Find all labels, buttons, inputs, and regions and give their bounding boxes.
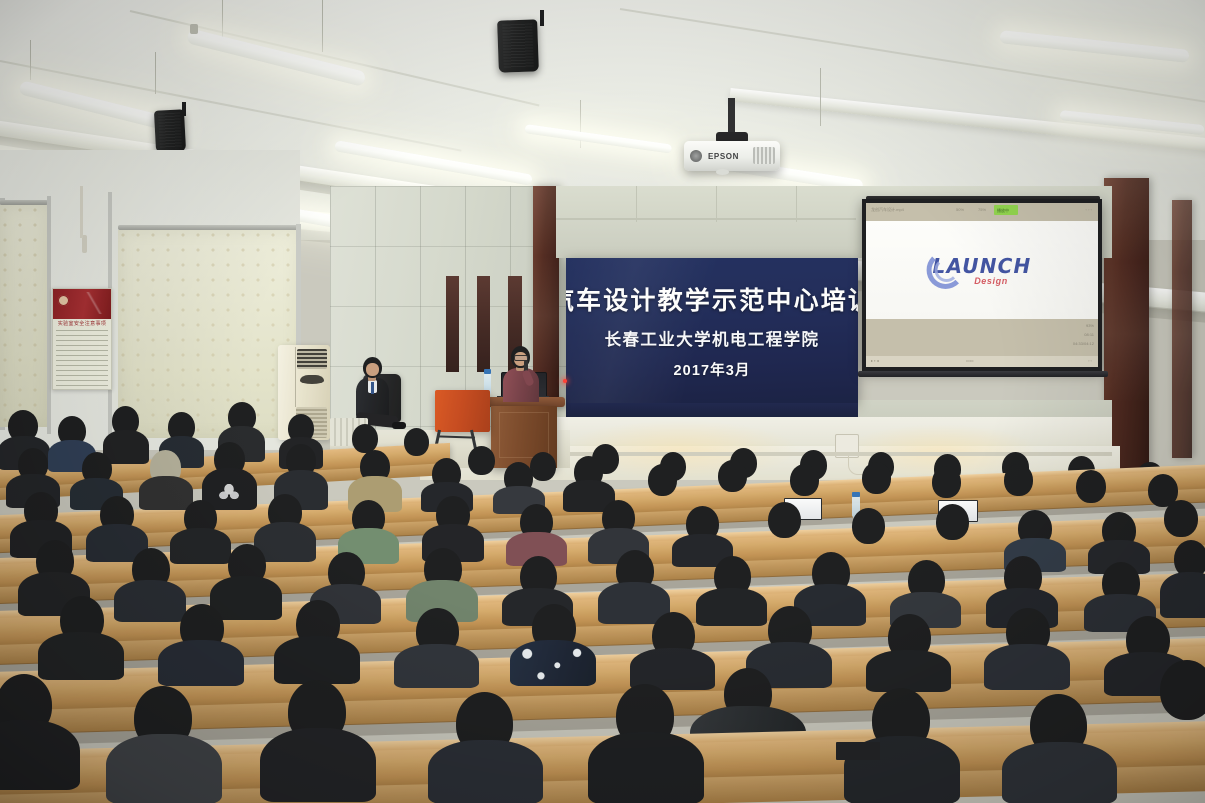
projector-vent xyxy=(753,147,775,164)
audience-body xyxy=(0,720,80,790)
audience-body xyxy=(984,644,1070,690)
player-stat-elapsed: 04:33/04:12 xyxy=(1073,341,1094,346)
audience-head xyxy=(1004,464,1033,496)
bottle-cap xyxy=(484,369,491,374)
audience-body xyxy=(158,640,244,686)
audience-head xyxy=(648,464,677,496)
audience-head xyxy=(1076,470,1106,503)
ceiling-speaker xyxy=(497,19,539,72)
player-toolbar: ▸ ▪ ◂ ▭▭ ▫ ▫ xyxy=(866,356,1098,367)
player-right-controls: ◦ ◦ ◦ xyxy=(1086,207,1092,212)
university-seal-icon xyxy=(58,295,69,306)
audience-body xyxy=(1160,572,1205,618)
ceiling-speaker xyxy=(154,109,186,153)
projector-lens xyxy=(690,150,702,162)
speaker-bracket xyxy=(540,10,544,26)
player-top-bar: 龙创汽车设计.mp4 50% 75% 播放中 ◦ ◦ ◦ xyxy=(866,203,1098,221)
audience-body xyxy=(696,588,767,626)
ac-intake-grille xyxy=(297,349,327,369)
player-toolbar-center: ▭▭ xyxy=(966,358,974,363)
projector: EPSON xyxy=(684,141,780,171)
window-blind xyxy=(118,230,298,438)
banner-title-line: 龙创汽车设计教学示范中心培训首课 xyxy=(566,281,858,317)
light-wire xyxy=(820,68,821,126)
audience-body xyxy=(210,576,282,620)
banner-subtitle-line: 长春工业大学机电工程学院 xyxy=(605,326,820,350)
ac-panel-seam xyxy=(295,347,296,407)
audience-body xyxy=(103,430,149,464)
player-toolbar-right-icons: ▫ ▫ xyxy=(1088,358,1092,363)
screen-surface: 龙创汽车设计.mp4 50% 75% 播放中 ◦ ◦ ◦ LAUNCH Desi… xyxy=(866,203,1098,367)
wall-seam xyxy=(716,186,717,222)
audience-head xyxy=(352,424,378,453)
audience-body xyxy=(170,528,231,564)
light-wire xyxy=(222,0,223,40)
light-end-cap xyxy=(190,24,198,34)
audience-body xyxy=(394,644,479,688)
window-blind xyxy=(0,205,48,427)
light-wire xyxy=(30,40,31,80)
launch-design-logo: LAUNCH Design xyxy=(933,254,1032,286)
notice-board: 实验室安全注意事项 xyxy=(52,288,112,390)
audience-body xyxy=(38,632,124,680)
screen-bottom-bar xyxy=(858,371,1108,377)
audience-body xyxy=(114,580,186,622)
audience-body xyxy=(139,476,193,510)
projector-lens-front xyxy=(716,169,729,175)
projector-pole xyxy=(728,98,735,134)
audience-head xyxy=(1164,500,1198,537)
laser-pointer-dot xyxy=(563,379,567,383)
wall-seam xyxy=(636,186,637,222)
audience-body xyxy=(274,636,360,684)
audience-head xyxy=(718,460,747,492)
notice-title: 实验室安全注意事项 xyxy=(53,320,111,327)
event-banner: 龙创汽车设计教学示范中心培训首课 长春工业大学机电工程学院 2017年3月 xyxy=(566,258,858,403)
projection-screen: 龙创汽车设计.mp4 50% 75% 播放中 ◦ ◦ ◦ LAUNCH Desi… xyxy=(862,199,1102,371)
player-toolbar-left-icons: ▸ ▪ ◂ xyxy=(871,358,879,363)
player-progress-2: 75% xyxy=(978,207,986,212)
audience-body xyxy=(428,740,543,803)
light-wire xyxy=(155,52,156,94)
banner-skirt xyxy=(566,403,858,417)
folded-table xyxy=(435,390,490,432)
audience-head xyxy=(862,462,891,494)
audience-body xyxy=(106,734,222,803)
audience-head xyxy=(790,464,819,496)
audience-head xyxy=(468,446,495,475)
seated-man-face xyxy=(366,363,379,376)
audience-head xyxy=(1160,660,1205,720)
bottle-cap xyxy=(852,492,860,497)
wood-column xyxy=(1172,200,1192,458)
jacket-graphic-print xyxy=(214,478,244,506)
wall-seam xyxy=(796,186,797,222)
player-stat-clock: 08:11 xyxy=(1084,332,1094,337)
ac-air-vent xyxy=(300,375,324,384)
audience-body-patterned xyxy=(510,640,596,686)
seated-man-tie xyxy=(371,382,374,394)
projector-brand-label: EPSON xyxy=(708,152,739,161)
audience-body xyxy=(260,728,376,802)
audience-head xyxy=(936,504,969,540)
light-wire xyxy=(322,0,323,52)
notice-text-lines xyxy=(56,330,107,386)
audience-head xyxy=(932,466,961,498)
speaker-grille xyxy=(502,24,534,69)
audience-head xyxy=(852,508,885,544)
presenter-body xyxy=(503,368,539,402)
audience-body xyxy=(866,650,951,692)
player-status-badge: 播放中 xyxy=(997,208,1009,214)
player-bottom-bar: 93% 08:11 04:33/04:12 xyxy=(866,319,1098,355)
seated-man-shoe xyxy=(392,422,406,429)
stage-baseboard xyxy=(556,452,1112,456)
audience-body xyxy=(588,732,704,803)
wall-pipe xyxy=(80,186,83,238)
banner-date-line: 2017年3月 xyxy=(673,359,750,380)
wall-accent-stripe xyxy=(477,276,490,372)
player-stat-percent: 93% xyxy=(1086,323,1094,328)
wall-accent-stripe xyxy=(446,276,459,372)
audience-body xyxy=(1002,742,1117,803)
audience-laptop xyxy=(836,742,880,760)
player-filename: 龙创汽车设计.mp4 xyxy=(871,207,904,213)
lecture-hall-photo: EPSON 实验室安全注意事项 xyxy=(0,0,1205,803)
audience-head xyxy=(404,428,429,456)
window-frame xyxy=(47,196,51,434)
player-progress-1: 50% xyxy=(956,207,964,212)
audience-head xyxy=(530,452,556,481)
launch-swoosh-inner-icon xyxy=(935,258,959,282)
audience-head xyxy=(768,502,801,538)
speaker-grille xyxy=(158,113,183,149)
wall-seam xyxy=(556,218,856,220)
player-video-area: LAUNCH Design xyxy=(866,221,1098,319)
